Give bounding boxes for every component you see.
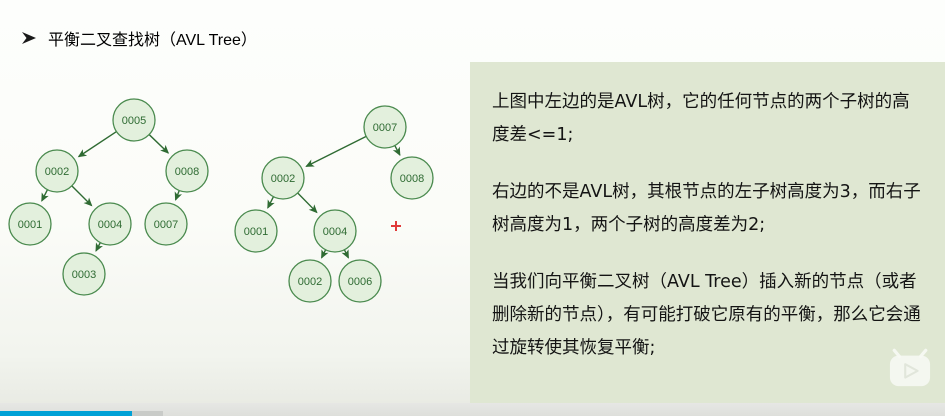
tree-node: 0007 — [145, 203, 187, 245]
tree-node-label: 0001 — [18, 219, 42, 231]
tree-nodes: 0005000200080001000400070003000700020008… — [9, 99, 433, 302]
tree-edge — [79, 132, 117, 157]
tree-edge — [306, 136, 366, 166]
tree-edge — [176, 191, 180, 200]
tree-node-label: 0008 — [400, 173, 424, 185]
red-plus-cursor-glyph — [391, 221, 401, 231]
tree-edge — [344, 250, 348, 258]
tree-node-label: 0002 — [271, 173, 295, 185]
progress-track[interactable] — [0, 411, 163, 416]
tree-node: 0001 — [9, 203, 51, 245]
progress-fill[interactable] — [0, 411, 132, 416]
slide-canvas: 平衡二叉查找树（AVL Tree） 0005000200080001000400… — [0, 0, 945, 403]
tree-node-label: 0007 — [154, 219, 178, 231]
note-paragraph-3: 当我们向平衡二叉树（AVL Tree）插入新的节点（或者删除新的节点），有可能打… — [492, 266, 923, 365]
note-paragraph-1: 上图中左边的是AVL树，它的任何节点的两个子树的高度差<=1; — [492, 86, 923, 152]
tree-node: 0005 — [113, 99, 155, 141]
tree-edge — [72, 186, 92, 206]
tree-node: 0004 — [314, 210, 356, 252]
tree-edge — [149, 135, 168, 153]
tree-node: 0007 — [364, 106, 406, 148]
binary-tree-diagrams: 0005000200080001000400070003000700020008… — [0, 0, 470, 403]
tree-node-label: 0008 — [175, 166, 199, 178]
tree-edge — [298, 193, 317, 212]
tree-node-label: 0006 — [348, 276, 372, 288]
tree-node-label: 0007 — [373, 122, 397, 134]
tree-node-label: 0005 — [122, 115, 146, 127]
tree-node: 0001 — [235, 210, 277, 252]
tree-node-label: 0004 — [98, 219, 122, 231]
video-player-strip[interactable] — [0, 403, 945, 416]
tree-edge — [96, 243, 100, 251]
tree-node-label: 0002 — [298, 276, 322, 288]
tree-node: 0003 — [63, 253, 105, 295]
tree-node: 0002 — [289, 260, 331, 302]
tree-node-label: 0001 — [244, 226, 268, 238]
bilibili-tv-play-logo — [887, 347, 933, 389]
tree-node: 0008 — [391, 157, 433, 199]
tree-edge — [395, 146, 400, 155]
tree-node-label: 0004 — [323, 226, 347, 238]
explanation-panel: 上图中左边的是AVL树，它的任何节点的两个子树的高度差<=1; 右边的不是AVL… — [470, 62, 945, 403]
tree-node: 0002 — [262, 157, 304, 199]
tree-node: 0004 — [89, 203, 131, 245]
note-paragraph-2: 右边的不是AVL树，其根节点的左子树高度为3，而右子树高度为1，两个子树的高度差… — [492, 176, 923, 242]
tree-edge — [322, 250, 326, 258]
tree-edge — [268, 197, 274, 208]
tree-node-label: 0003 — [72, 269, 96, 281]
tree-node: 0008 — [166, 150, 208, 192]
tree-node-label: 0002 — [45, 166, 69, 178]
red-plus-cursor — [391, 221, 401, 231]
tree-edge — [42, 190, 48, 201]
tree-node: 0002 — [36, 150, 78, 192]
tree-svg: 0005000200080001000400070003000700020008… — [0, 0, 470, 403]
tree-node: 0006 — [339, 260, 381, 302]
